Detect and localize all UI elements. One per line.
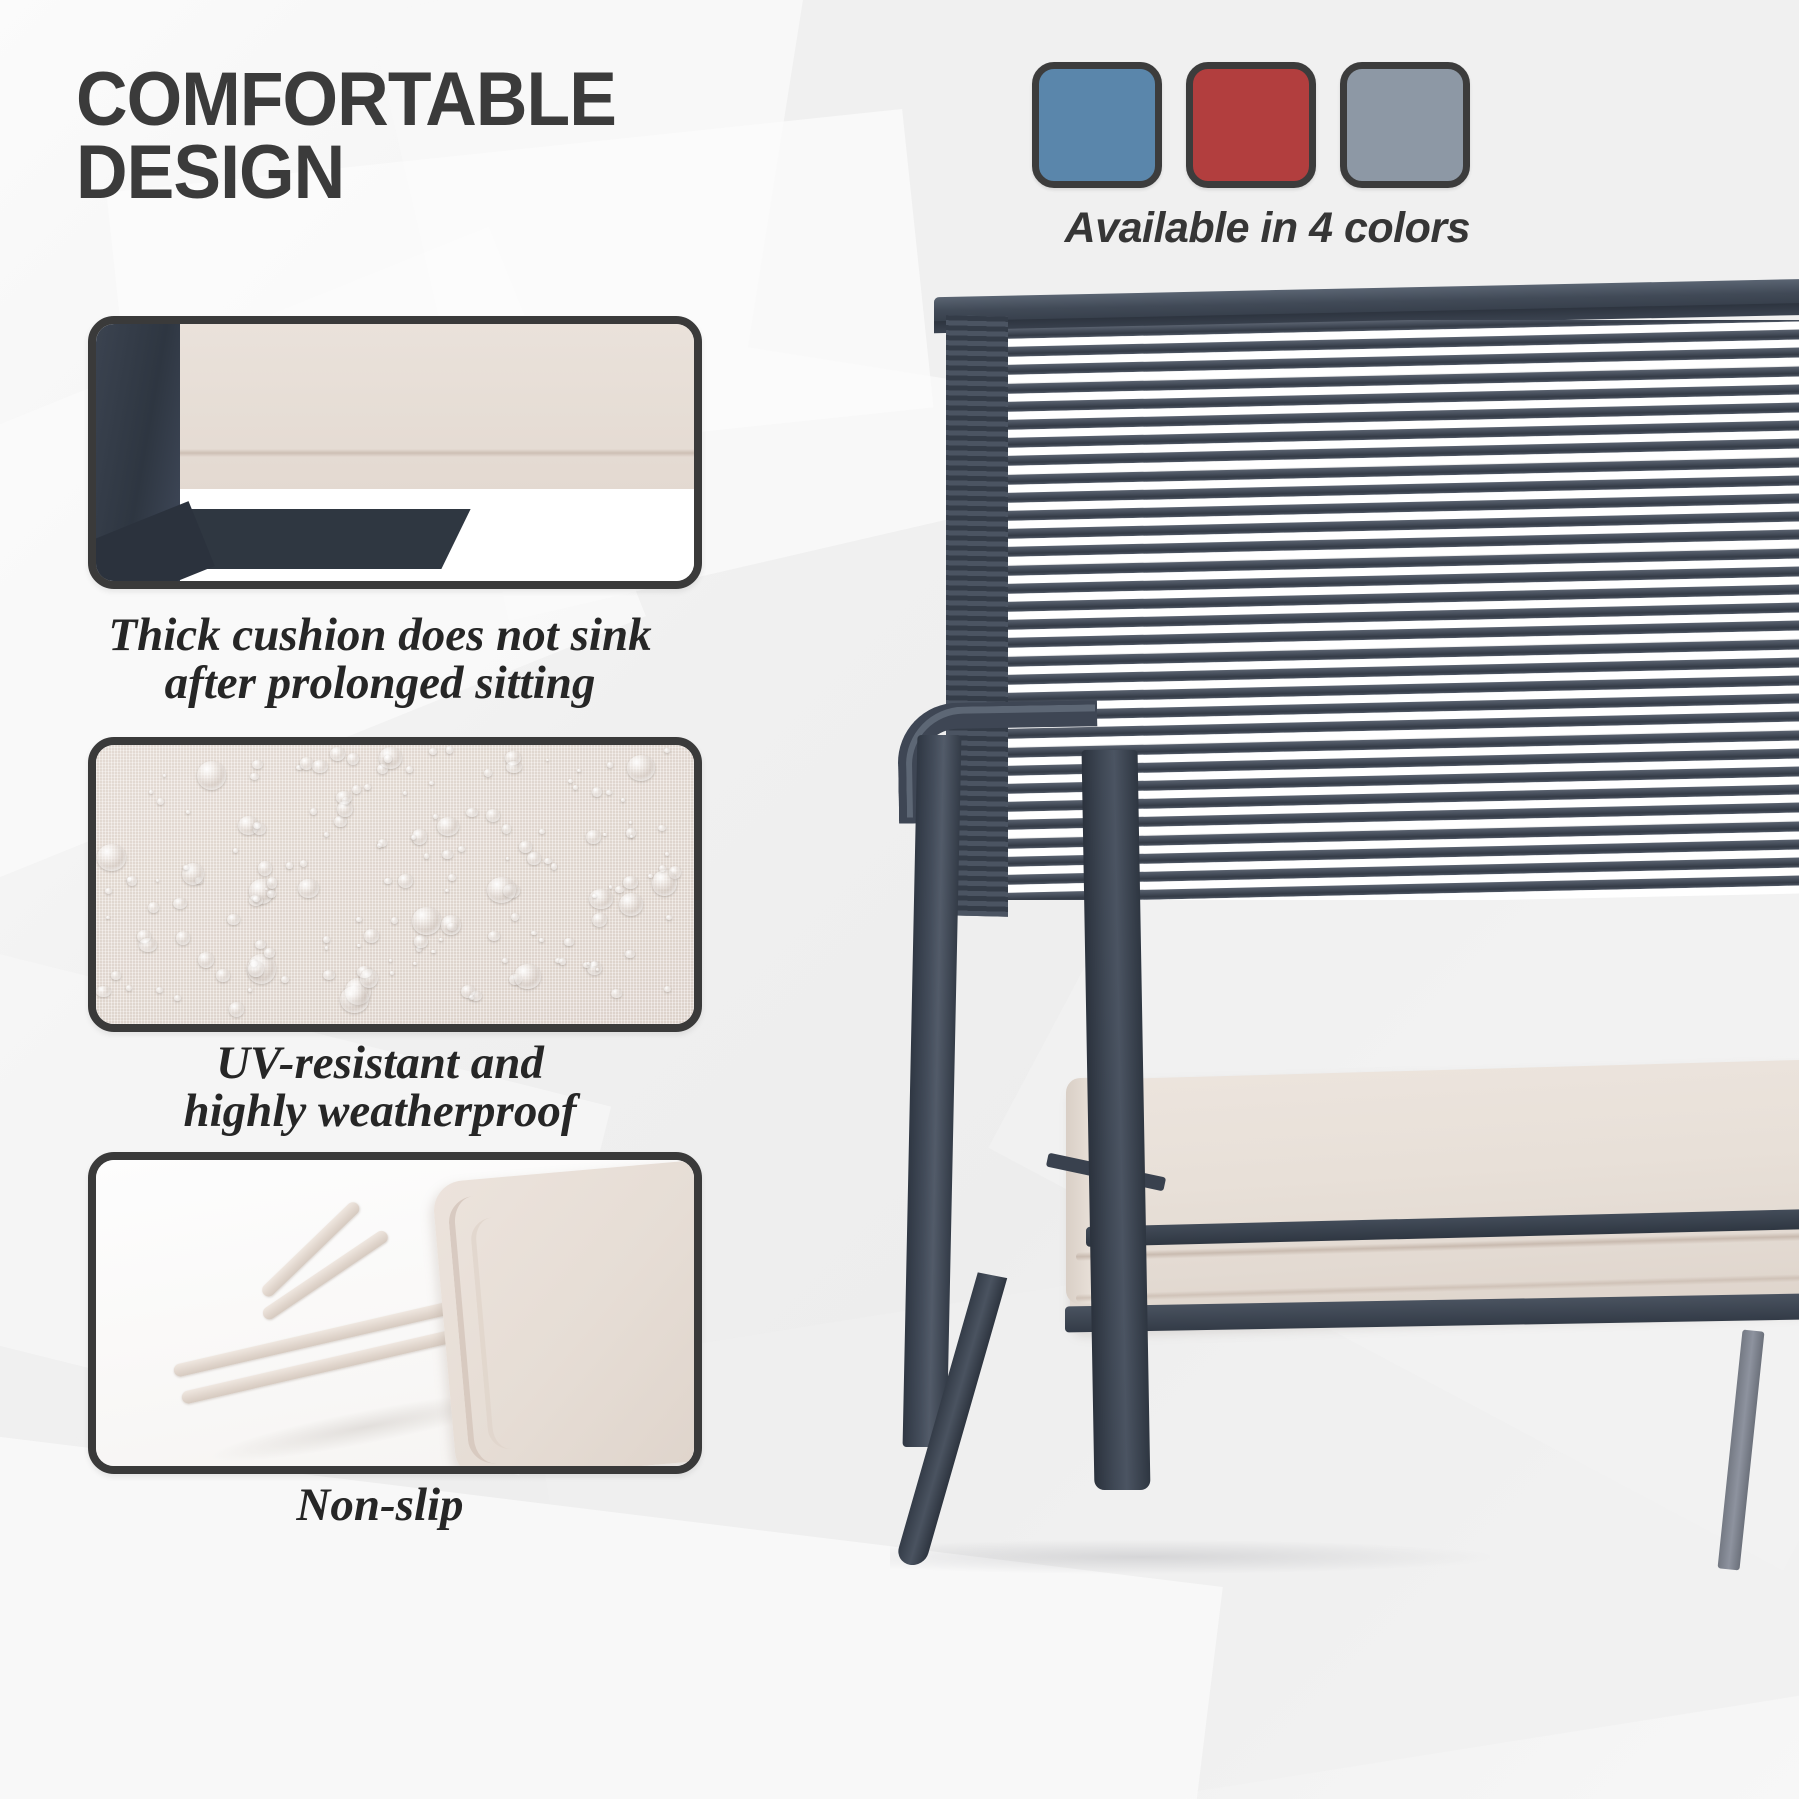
feature-caption-uv-resistant: UV-resistant and highly weatherproof [60, 1040, 700, 1136]
water-droplet [267, 890, 276, 898]
water-droplet [227, 914, 240, 925]
water-droplet [312, 760, 328, 773]
water-droplet [149, 790, 153, 794]
water-droplet [531, 931, 536, 935]
water-droplet [300, 860, 307, 867]
water-droplet [621, 798, 625, 801]
water-droplet [111, 971, 121, 980]
water-droplet [445, 889, 449, 892]
water-droplet [658, 825, 666, 832]
water-droplet [384, 878, 392, 884]
water-droplet [148, 902, 159, 913]
water-droplet [174, 995, 181, 1001]
water-droplet [484, 769, 492, 776]
water-droplet [431, 950, 435, 954]
water-droplet [596, 968, 599, 971]
water-droplet [589, 889, 612, 909]
color-swatch-gray[interactable] [1340, 62, 1470, 188]
water-droplet [406, 766, 413, 773]
water-droplet [264, 948, 275, 958]
waterproof-fabric-photo [96, 745, 694, 1024]
water-droplet [551, 863, 557, 869]
water-droplet [607, 762, 613, 767]
water-droplet [506, 857, 509, 860]
water-droplet [546, 759, 549, 762]
water-droplet [156, 879, 159, 882]
water-droplet [611, 989, 621, 997]
water-droplet [390, 971, 395, 975]
water-droplet [412, 907, 441, 935]
water-droplet [106, 916, 110, 919]
water-droplet [340, 986, 369, 1013]
water-droplet [458, 846, 465, 852]
water-droplet [334, 816, 347, 828]
water-droplet [592, 913, 607, 927]
water-droplet [347, 753, 359, 765]
water-droplet [298, 879, 318, 898]
rocker-leg [914, 1270, 1124, 1570]
feature-image-thick-cushion [88, 316, 702, 589]
water-droplet [502, 824, 511, 834]
water-droplet [352, 785, 361, 794]
color-swatch-row [1000, 62, 1470, 188]
water-droplet [615, 886, 624, 893]
water-droplet [609, 885, 613, 888]
water-droplet [559, 958, 567, 965]
water-droplet [198, 952, 214, 968]
water-droplet [469, 995, 474, 1000]
chair-frame-edge [96, 324, 180, 581]
water-droplet [573, 785, 578, 790]
water-droplet [665, 852, 669, 856]
water-droplet [629, 821, 632, 824]
water-droplet [544, 858, 552, 864]
water-droplet [539, 829, 544, 834]
water-droplet [96, 986, 110, 997]
water-droplet [364, 784, 371, 790]
rear-leg [1718, 1330, 1765, 1571]
water-droplet [281, 976, 289, 983]
water-droplet [519, 841, 532, 853]
cushion-seam [174, 449, 702, 457]
water-droplet [586, 830, 600, 844]
water-droplet [514, 964, 541, 989]
water-droplet [356, 917, 362, 923]
water-droplet [619, 893, 643, 916]
water-droplet [186, 810, 190, 814]
feature-image-uv-resistant [88, 737, 702, 1032]
water-droplet [252, 760, 263, 769]
feature-caption-thick-cushion: Thick cushion does not sink after prolon… [60, 612, 700, 708]
water-droplet [156, 987, 163, 993]
water-droplet [603, 833, 607, 837]
water-droplet [511, 913, 519, 921]
water-droplet [487, 877, 517, 903]
water-droplet [606, 790, 611, 795]
caption-line-1: Non-slip [60, 1482, 700, 1530]
color-swatch-red[interactable] [1186, 62, 1316, 188]
water-droplet [127, 876, 137, 886]
water-droplet [437, 817, 459, 836]
water-droplet [325, 946, 328, 949]
water-droplet [391, 917, 398, 924]
water-droplet [664, 748, 670, 753]
water-droplet [97, 844, 127, 871]
water-droplet [330, 747, 345, 761]
water-droplet [197, 761, 226, 790]
water-droplet [323, 936, 330, 943]
water-droplet [337, 801, 353, 818]
water-droplet [248, 988, 252, 992]
water-droplet [403, 791, 407, 795]
water-droplet [253, 822, 261, 829]
water-droplet [446, 746, 454, 754]
water-droplet [250, 773, 259, 780]
water-droplet [623, 876, 638, 888]
water-droplet [502, 958, 508, 963]
cushion-piping [469, 1197, 702, 1450]
water-droplet [364, 929, 380, 943]
water-droplet [664, 986, 671, 992]
water-droplet [429, 748, 437, 756]
water-droplet [439, 938, 443, 941]
water-droplet [625, 950, 635, 958]
color-options: Available in 4 colors [1000, 62, 1470, 253]
water-droplet [389, 959, 392, 962]
water-droplet [527, 852, 540, 865]
water-droplet [429, 781, 433, 785]
water-droplet [267, 877, 278, 888]
water-droplet [253, 896, 259, 902]
water-droplet [216, 969, 230, 982]
water-droplet [592, 787, 602, 797]
water-droplet [377, 843, 382, 848]
water-droplet [258, 861, 273, 876]
water-droplet [176, 931, 191, 945]
water-droplet [568, 779, 573, 784]
water-droplet [488, 931, 500, 941]
water-droplet [139, 938, 157, 952]
water-droplet [105, 888, 112, 894]
water-droplet [310, 808, 317, 815]
water-droplet [424, 853, 429, 859]
water-droplet [448, 874, 456, 881]
water-droplet [413, 962, 417, 965]
water-droplet [360, 969, 378, 989]
water-droplet [377, 764, 388, 775]
water-droplet [442, 850, 453, 859]
water-droplet [255, 940, 266, 949]
water-droplet [157, 798, 164, 805]
caption-line-2: highly weatherproof [60, 1088, 700, 1136]
page-title: COMFORTABLE DESIGN [76, 64, 809, 210]
water-droplet [163, 774, 166, 777]
water-droplet [357, 944, 361, 948]
water-droplet [466, 808, 478, 818]
feature-image-non-slip [88, 1152, 702, 1474]
water-droplet [323, 970, 335, 980]
caption-line-1: Thick cushion does not sink [60, 612, 700, 660]
water-droplet [173, 898, 187, 910]
water-droplet [577, 769, 580, 772]
water-droplet [183, 865, 189, 870]
water-droplet [233, 848, 238, 853]
water-droplet [433, 814, 437, 819]
infographic-canvas: COMFORTABLE DESIGN Available in 4 colors… [0, 0, 1799, 1799]
water-droplet [652, 870, 677, 896]
water-droplet [506, 761, 522, 773]
caption-line-1: UV-resistant and [60, 1040, 700, 1088]
water-droplet [398, 874, 414, 888]
product-photo-rocking-chair [850, 250, 1799, 1580]
feature-caption-non-slip: Non-slip [60, 1482, 700, 1530]
color-availability-caption: Available in 4 colors [1000, 204, 1470, 253]
water-droplet [286, 862, 293, 868]
water-droplet [126, 985, 133, 991]
water-droplet [414, 935, 428, 949]
water-droplet [441, 915, 461, 935]
water-droplet [539, 938, 544, 943]
water-droplet [486, 809, 500, 823]
water-droplet [324, 832, 329, 837]
water-droplet [564, 938, 574, 947]
page-title-line-2: DESIGN [76, 137, 809, 210]
water-droplet [627, 755, 656, 782]
water-droplet [630, 835, 633, 838]
water-droplet [666, 915, 672, 920]
caption-line-2: after prolonged sitting [60, 660, 700, 708]
water-droplet [229, 1002, 245, 1017]
color-swatch-blue[interactable] [1032, 62, 1162, 188]
